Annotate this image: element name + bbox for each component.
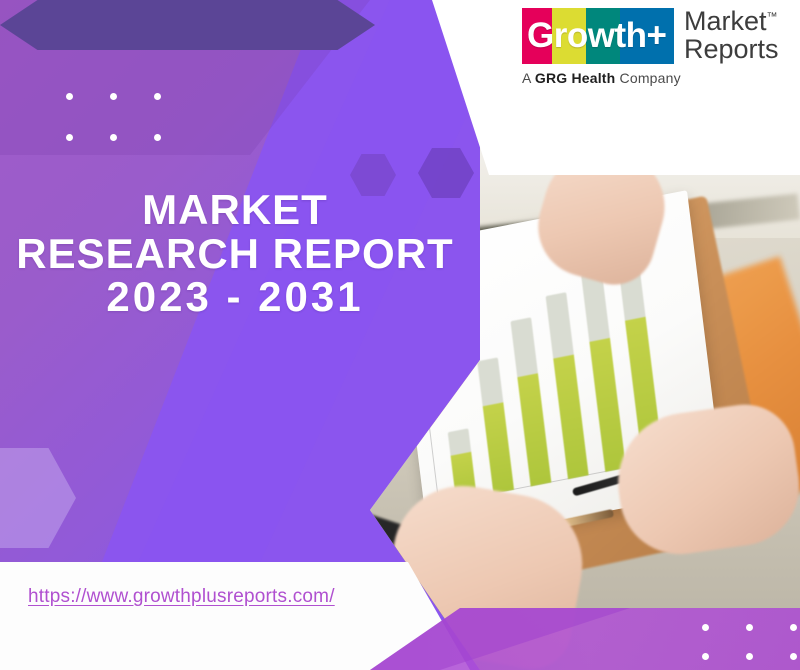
report-cover: MARKET RESEARCH REPORT 2023 - 2031 https…: [0, 0, 800, 670]
footer-long-hexagon-icon: [0, 0, 375, 50]
trademark-icon: ™: [767, 11, 778, 23]
logo-brand-market: Market: [684, 6, 767, 36]
dot-icon: [154, 134, 161, 141]
dot-icon: [66, 134, 73, 141]
dot-grid-top-left: [66, 93, 161, 141]
page-title: MARKET RESEARCH REPORT 2023 - 2031: [0, 188, 470, 319]
logo-brand-line-1: Market™: [684, 8, 779, 36]
title-line-2: RESEARCH REPORT: [0, 232, 470, 276]
dot-icon: [702, 653, 709, 660]
logo-brand-line-2: Reports: [684, 36, 779, 64]
dot-grid-bottom-right: [702, 624, 797, 660]
dot-icon: [154, 93, 161, 100]
chart-bar: [510, 317, 551, 486]
dot-icon: [790, 653, 797, 660]
logo-tagline-suffix: Company: [615, 70, 680, 86]
chart-bar: [477, 357, 514, 493]
title-line-1: MARKET: [0, 188, 470, 232]
dot-icon: [746, 624, 753, 631]
dot-icon: [702, 624, 709, 631]
dot-icon: [790, 624, 797, 631]
dot-icon: [66, 93, 73, 100]
website-url-link[interactable]: https://www.growthplusreports.com/: [28, 586, 335, 608]
logo-wordmark: Growth+: [522, 8, 674, 64]
logo-main-row: Growth+ Market™ Reports: [522, 8, 790, 64]
logo-brand-text: Market™ Reports: [684, 8, 779, 63]
logo-colorblock-mark: Growth+: [522, 8, 674, 64]
logo-tagline-prefix: A: [522, 70, 535, 86]
dot-icon: [110, 93, 117, 100]
brand-logo: Growth+ Market™ Reports A GRG Health Com…: [522, 8, 790, 86]
title-line-3: 2023 - 2031: [0, 275, 470, 319]
chart-bar: [581, 271, 626, 472]
dot-icon: [746, 653, 753, 660]
logo-tagline: A GRG Health Company: [522, 70, 790, 86]
logo-tagline-bold: GRG Health: [535, 70, 616, 86]
dot-icon: [110, 134, 117, 141]
chart-bar: [546, 292, 589, 479]
